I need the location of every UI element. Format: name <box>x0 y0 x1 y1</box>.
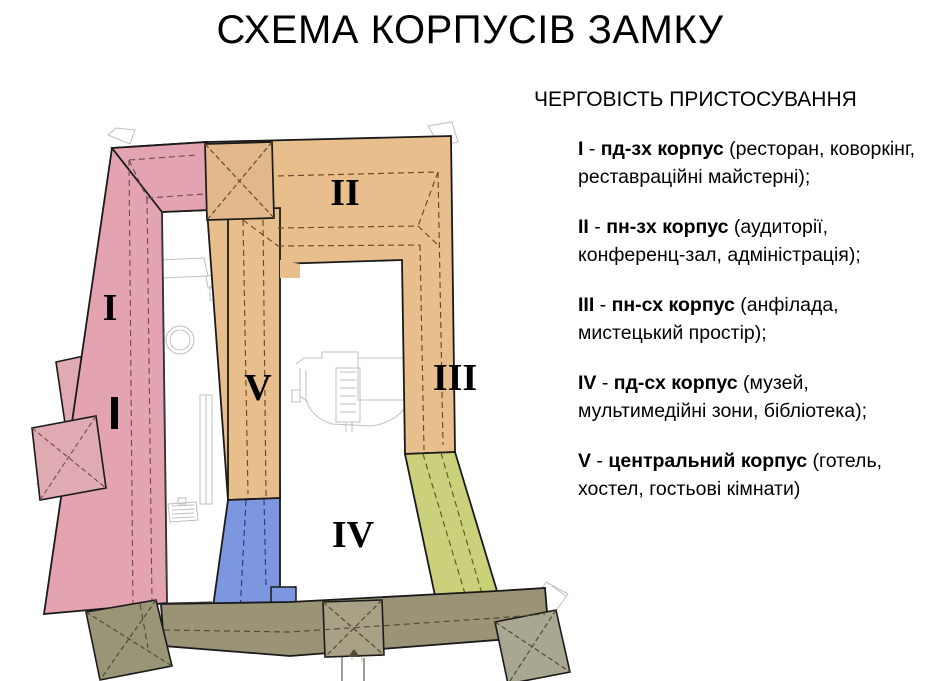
wing-label-II: II <box>330 172 360 214</box>
wing-III-range <box>405 452 497 605</box>
page-title: СХЕМА КОРПУСІВ ЗАМКУ <box>0 8 940 53</box>
wing-label-III: III <box>433 357 477 399</box>
legend-wing-name: пн-сх корпус <box>612 294 735 316</box>
wing-label-IV: IV <box>332 514 375 556</box>
wing-III-northeast[interactable] <box>405 452 497 605</box>
legend-item-iv: IV - пд-сх корпус (музей, мультимедійні … <box>578 369 940 425</box>
legend-wing-name: пд-сх корпус <box>614 372 738 394</box>
wing-I-entrance-mark <box>111 397 118 429</box>
tower-IV-west <box>86 600 172 680</box>
legend-wing-name: центральний корпус <box>608 450 807 472</box>
legend-wing-name: пд-зх корпус <box>601 138 724 160</box>
wing-I-southwest[interactable] <box>32 142 209 614</box>
legend-item-i: I - пд-зх корпус (ресторан, коворкінг, р… <box>578 135 940 191</box>
wing-label-I: I <box>103 287 118 329</box>
courtyard-boundary <box>162 212 212 603</box>
legend-item-iii: III - пн-сх корпус (анфілада, мистецький… <box>578 291 940 347</box>
legend-item-v: V - центральний корпус (готель, хостел, … <box>578 447 940 503</box>
legend-list: I - пд-зх корпус (ресторан, коворкінг, р… <box>578 135 940 503</box>
legend-wing-name: пн-зх корпус <box>606 216 728 238</box>
wing-IV-bridge-lines <box>342 657 364 681</box>
schematic-page: СХЕМА КОРПУСІВ ЗАМКУ ЧЕРГОВІСТЬ ПРИСТОСУ… <box>0 0 940 681</box>
wing-II-west-leg <box>228 208 280 500</box>
legend-item-ii: II - пн-зх корпус (аудиторії, конференц-… <box>578 213 940 269</box>
tower-I-west <box>32 416 106 500</box>
castle-floor-plan: I II III IV V <box>0 100 600 681</box>
wing-V-central[interactable] <box>212 498 296 614</box>
wing-label-V: V <box>244 367 272 409</box>
